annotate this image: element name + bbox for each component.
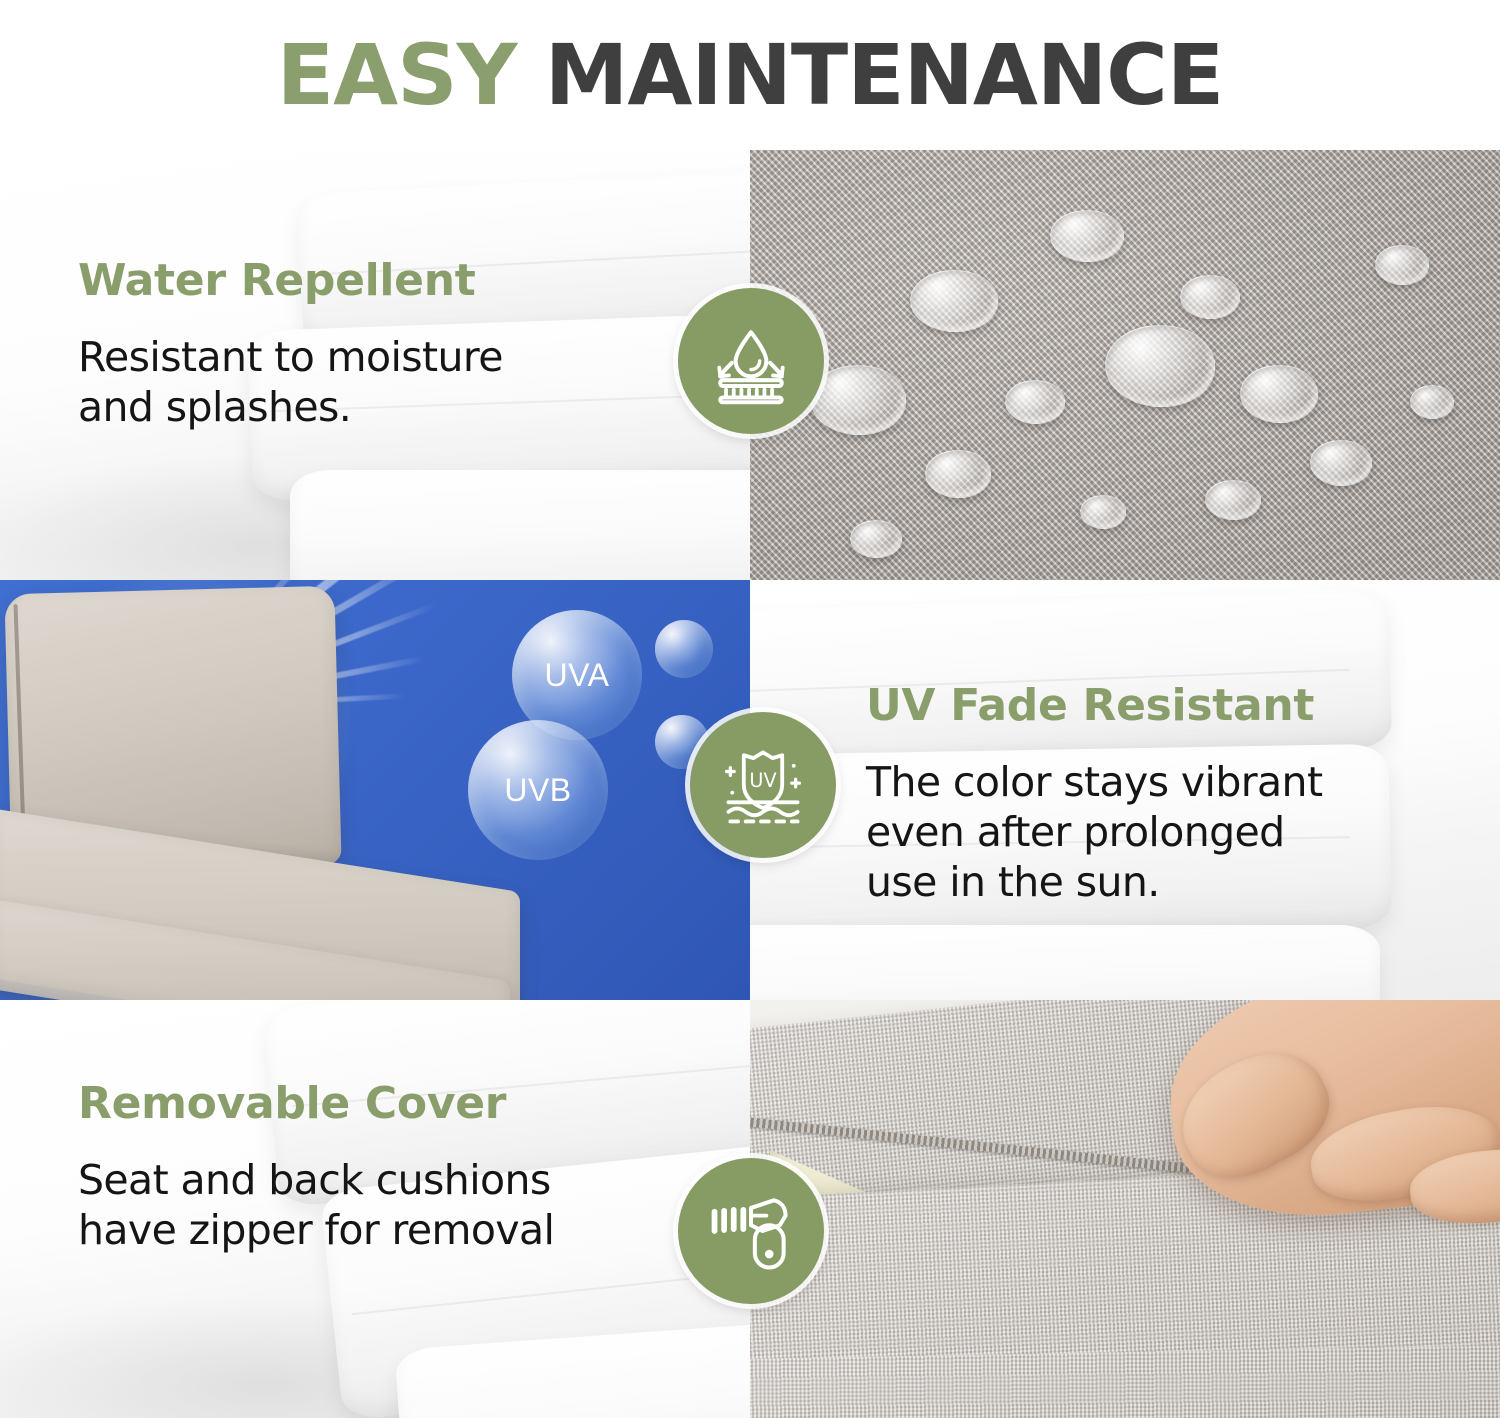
feature-description-line: have zipper for removal [78,1205,698,1255]
feature-description: The color stays vibrant even after prolo… [866,757,1426,907]
uva-label: UVA [545,657,610,694]
photo-zipper-hand [750,1000,1500,1418]
water-droplet [1080,495,1126,529]
feature-description-line: use in the sun. [866,857,1426,907]
water-droplet [1180,275,1240,319]
water-droplet [850,520,902,558]
water-droplet [1410,385,1454,419]
small-bubble [655,620,713,678]
uvb-bubble: UVB [468,720,608,860]
title-word-maintenance: MAINTENANCE [545,26,1223,124]
feature-description: Resistant to moisture and splashes. [78,332,678,432]
feature-title: Removable Cover [78,1078,698,1129]
water-droplet-repel-icon [703,313,799,409]
water-droplet [1205,480,1261,520]
water-droplet [925,450,991,498]
title-word-easy: EASY [277,26,517,124]
feature-text-uv-fade-resistant: UV Fade Resistant The color stays vibran… [866,680,1426,907]
water-droplet-repel-icon-badge [678,288,824,434]
water-droplet [910,270,998,332]
uv-shield-icon: UV [715,737,811,833]
water-droplet [810,365,906,435]
uv-shield-text: UV [749,769,776,792]
photo-water-beads [750,150,1500,580]
feature-description-line: The color stays vibrant [866,757,1426,807]
feature-text-water-repellent: Water Repellent Resistant to moisture an… [78,255,678,432]
feature-description-line: Resistant to moisture [78,332,678,382]
feature-description-line: even after prolonged [866,807,1426,857]
water-droplet [1005,380,1065,424]
feature-description-line: Seat and back cushions [78,1155,698,1205]
zipper-pull-icon [703,1183,799,1279]
water-droplet [1105,325,1215,407]
feature-title: UV Fade Resistant [866,680,1426,731]
water-droplet [1310,440,1372,486]
feature-text-removable-cover: Removable Cover Seat and back cushions h… [78,1078,698,1255]
cushion-shape [290,470,750,580]
photo-beige-chair-blue-uv: UVA UVB [0,580,750,1000]
water-droplet [1050,210,1124,262]
header: EASY MAINTENANCE [0,0,1500,150]
feature-description-line: and splashes. [78,382,678,432]
water-droplet [1375,245,1429,285]
zipper-pull-icon-badge [678,1158,824,1304]
page-title: EASY MAINTENANCE [277,26,1223,124]
feature-title: Water Repellent [78,255,678,306]
uvb-label: UVB [504,772,571,809]
uv-shield-icon-badge: UV [690,712,836,858]
feature-description: Seat and back cushions have zipper for r… [78,1155,698,1255]
water-droplet [1240,365,1318,423]
easy-maintenance-infographic: EASY MAINTENANCE Water Repellent Resista… [0,0,1500,1418]
cushion-shape [750,925,1380,1000]
